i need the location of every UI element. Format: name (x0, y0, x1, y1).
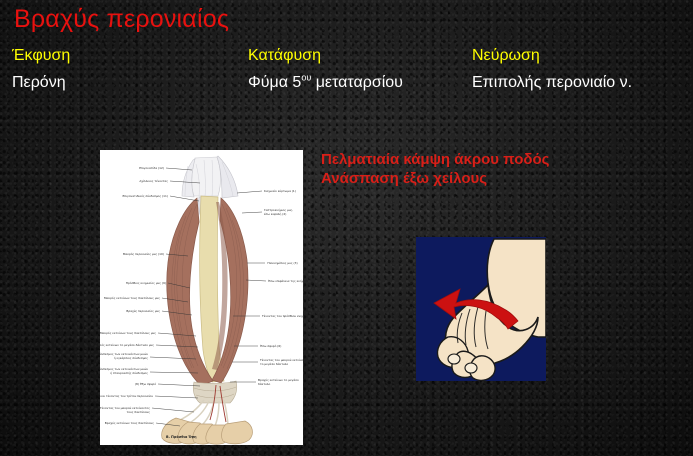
svg-text:το μεγάλο δάκτυλο: το μεγάλο δάκτυλο (260, 362, 288, 366)
svg-text:Μακρός εκτείνων το μεγάλο δάκτ: Μακρός εκτείνων το μεγάλο δάκτυλο μυς (100, 343, 154, 347)
svg-text:Αχίλλειος τένοντας: Αχίλλειος τένοντας (139, 179, 168, 183)
svg-text:Πρόσθιος κνημιαίος μυς (9): Πρόσθιος κνημιαίος μυς (9) (126, 281, 166, 285)
svg-text:(8) Έξω σφυρό: (8) Έξω σφυρό (135, 382, 156, 386)
svg-text:Επιγονατίδα (12): Επιγονατίδα (12) (139, 166, 164, 170)
svg-text:Βραχύς περονιαίος μυς: Βραχύς περονιαίος μυς (126, 309, 160, 313)
column-heading-innervation: Νεύρωση (472, 45, 632, 66)
svg-text:Υποκνημίδιος μυς (3): Υποκνημίδιος μυς (3) (267, 261, 298, 265)
svg-text:Έσω επιφάνεια της κνήμης (4): Έσω επιφάνεια της κνήμης (4) (267, 279, 303, 283)
svg-text:Βραχύς εκτείνων τους δακτύλους: Βραχύς εκτείνων τους δακτύλους (105, 421, 155, 425)
svg-text:Κνημιαίο κύρτωμα (1): Κνημιαίο κύρτωμα (1) (264, 189, 296, 193)
column-heading-origin: Έκφυση (12, 45, 70, 66)
svg-text:Μυς και τένοντας του τρίτου πε: Μυς και τένοντας του τρίτου περονιαίου (100, 394, 153, 398)
column-value-insertion: Φύμα 5ου μεταταρσίου (248, 72, 403, 94)
anatomy-diagram-image: Επιγονατίδα (12) Αχίλλειος τένοντας Επιγ… (100, 150, 303, 445)
info-column-insertion: Κατάφυση Φύμα 5ου μεταταρσίου (248, 45, 403, 94)
insertion-value-suffix: μεταταρσίου (311, 74, 403, 91)
info-column-innervation: Νεύρωση Επιπολής περονιαίο ν. (472, 45, 632, 94)
svg-text:Μακρός εκτείνων τους δακτύλους: Μακρός εκτείνων τους δακτύλους μυς (100, 331, 156, 335)
svg-text:Έσω σφυρό (6): Έσω σφυρό (6) (259, 344, 281, 348)
insertion-value-prefix: Φύμα 5 (248, 74, 301, 91)
svg-text:Μακρός εκτείνων τους δακτύλους: Μακρός εκτείνων τους δακτύλους μυς (104, 296, 160, 300)
svg-text:Τένοντας του πρόσθιου κνημιαίο: Τένοντας του πρόσθιου κνημιαίου (5) (261, 314, 303, 318)
info-column-origin: Έκφυση Περόνη (12, 45, 70, 94)
svg-text:ή εγκάρσιος σύνδεσμος: ή εγκάρσιος σύνδεσμος (114, 356, 149, 360)
action-line-2: Ανάσπαση έξω χείλους (321, 169, 549, 188)
svg-text:έσω κεφαλή (2): έσω κεφαλή (2) (264, 212, 286, 216)
svg-text:ή σταυροειδής σύνδεσμος: ή σταυροειδής σύνδεσμος (110, 371, 148, 375)
muscle-action-text: Πελματιαία κάμψη άκρου ποδός Ανάσπαση έξ… (321, 150, 549, 188)
column-heading-insertion: Κατάφυση (248, 45, 403, 66)
presentation-slide: Βραχύς περονιαίος Έκφυση Περόνη Κατάφυση… (0, 0, 693, 456)
toenail-2 (465, 363, 477, 373)
foot-eversion-image (416, 237, 546, 381)
anatomy-figure-caption: Β. Πρόσθια Όψη (166, 435, 197, 439)
action-line-1: Πελματιαία κάμψη άκρου ποδός (321, 150, 549, 169)
column-value-origin: Περόνη (12, 72, 70, 94)
toenail-1 (448, 354, 460, 364)
svg-text:δάκτυλο: δάκτυλο (258, 382, 271, 386)
column-value-innervation: Επιπολής περονιαίο ν. (472, 72, 632, 94)
svg-text:Επιγονατιδικός σύνδεσμος (11): Επιγονατιδικός σύνδεσμος (11) (122, 194, 168, 198)
svg-text:τους δακτύλους: τους δακτύλους (127, 410, 151, 414)
svg-text:Μακρός περονιαίος μυς (10): Μακρός περονιαίος μυς (10) (123, 252, 164, 256)
slide-title: Βραχύς περονιαίος (14, 4, 229, 34)
insertion-value-superscript: ου (301, 73, 311, 83)
